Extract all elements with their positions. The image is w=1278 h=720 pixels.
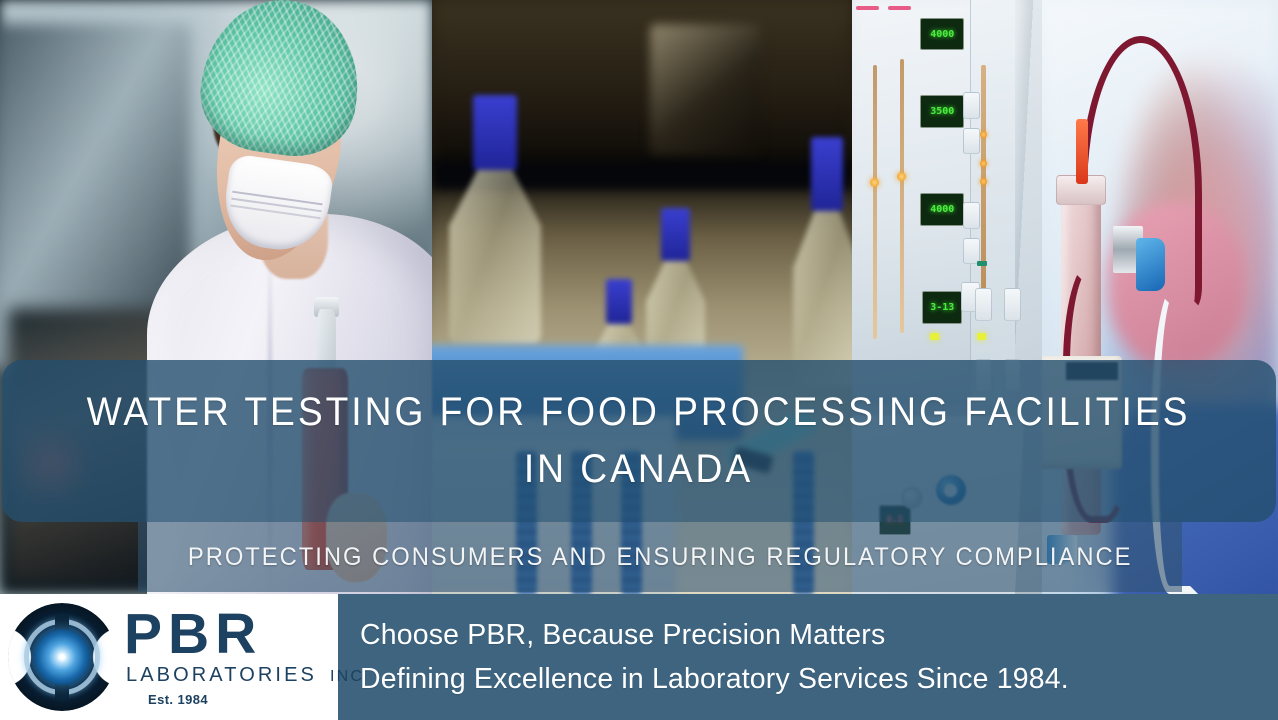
hero-title-band: WATER TESTING FOR FOOD PROCESSING FACILI… [2,360,1276,522]
panel3-button [963,202,980,229]
panel4-blue-fitting [1136,238,1164,291]
panel3-pink-strip [856,6,879,10]
hero-subtitle: PROTECTING CONSUMERS AND ENSURING REGULA… [188,543,1133,572]
panel3-pink-strip [888,6,911,10]
panel3-button [963,238,980,265]
panel2-flask [793,137,852,386]
footer-bar: PBR LABORATORIES INC Est. 1984 Choose PB… [0,594,1278,720]
panel3-yellow-led [930,333,939,340]
brand-name: PBR [124,607,364,662]
footer-tagline: Choose PBR, Because Precision Matters De… [338,594,1278,720]
brand-logo[interactable]: PBR LABORATORIES INC Est. 1984 [0,594,338,720]
brand-laboratories-label: LABORATORIES [126,664,317,687]
panel2-flask [449,95,541,344]
panel2-dark-equipment [650,24,759,155]
panel3-button [1004,288,1021,321]
brand-established-label: Est. 1984 [148,692,364,707]
tagline-line-2: Defining Excellence in Laboratory Servic… [360,657,1260,701]
panel3-button [963,128,980,155]
panel3-gauge-led [980,178,987,185]
panel3-lcd-display: 3-13 [922,291,962,324]
panel3-gauge-led [980,131,987,138]
panel3-slider-track [900,59,904,332]
panel3-lcd-display: 4000 [920,18,964,51]
panel3-button [975,288,992,321]
pbr-eye-emblem-icon [6,601,118,713]
poster-canvas: 4000 3500 4000 3-13 0.5 [0,0,1278,720]
panel4-red-connector [1076,119,1088,184]
brand-subline: LABORATORIES INC [126,664,364,687]
hero-title: WATER TESTING FOR FOOD PROCESSING FACILI… [70,384,1207,498]
panel3-green-led [977,261,987,266]
hero-subtitle-band: PROTECTING CONSUMERS AND ENSURING REGULA… [138,522,1182,592]
panel3-lcd-display: 4000 [920,193,964,226]
panel3-yellow-led [977,333,986,340]
panel3-gauge-track [981,65,986,320]
panel3-lcd-display: 3500 [920,95,964,128]
brand-inc-label: INC [330,668,364,686]
panel3-button [963,92,980,119]
brand-wordmark: PBR LABORATORIES INC Est. 1984 [124,607,364,707]
panel3-slider-track [873,65,877,338]
tagline-line-1: Choose PBR, Because Precision Matters [360,613,1260,657]
